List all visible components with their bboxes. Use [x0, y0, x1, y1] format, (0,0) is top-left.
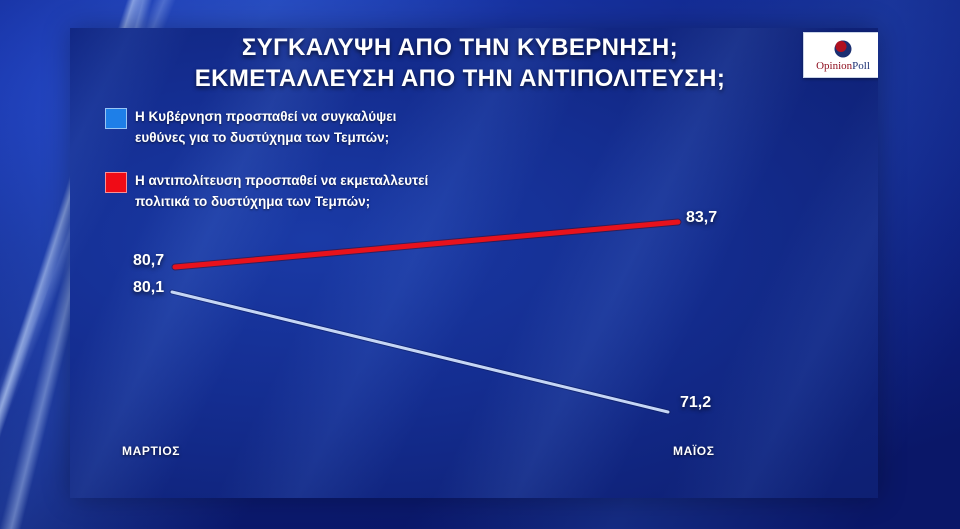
value-label-opposition-march: 80,7	[133, 252, 164, 270]
axis-label-may: ΜΑΪΟΣ	[673, 444, 715, 458]
series-line-government	[172, 292, 668, 412]
series-line-opposition	[175, 222, 678, 267]
axis-label-march: ΜΑΡΤΙΟΣ	[122, 444, 180, 458]
screenshot-root: ΣΥΓΚΑΛΥΨΗ ΑΠΟ ΤΗΝ ΚΥΒΕΡΝΗΣΗ; ΕΚΜΕΤΑΛΛΕΥΣ…	[0, 0, 960, 529]
value-label-opposition-may: 83,7	[686, 209, 717, 227]
value-label-government-march: 80,1	[133, 279, 164, 297]
chart-plot-area	[70, 28, 878, 498]
chart-panel: ΣΥΓΚΑΛΥΨΗ ΑΠΟ ΤΗΝ ΚΥΒΕΡΝΗΣΗ; ΕΚΜΕΤΑΛΛΕΥΣ…	[70, 28, 878, 498]
value-label-government-may: 71,2	[680, 394, 711, 412]
